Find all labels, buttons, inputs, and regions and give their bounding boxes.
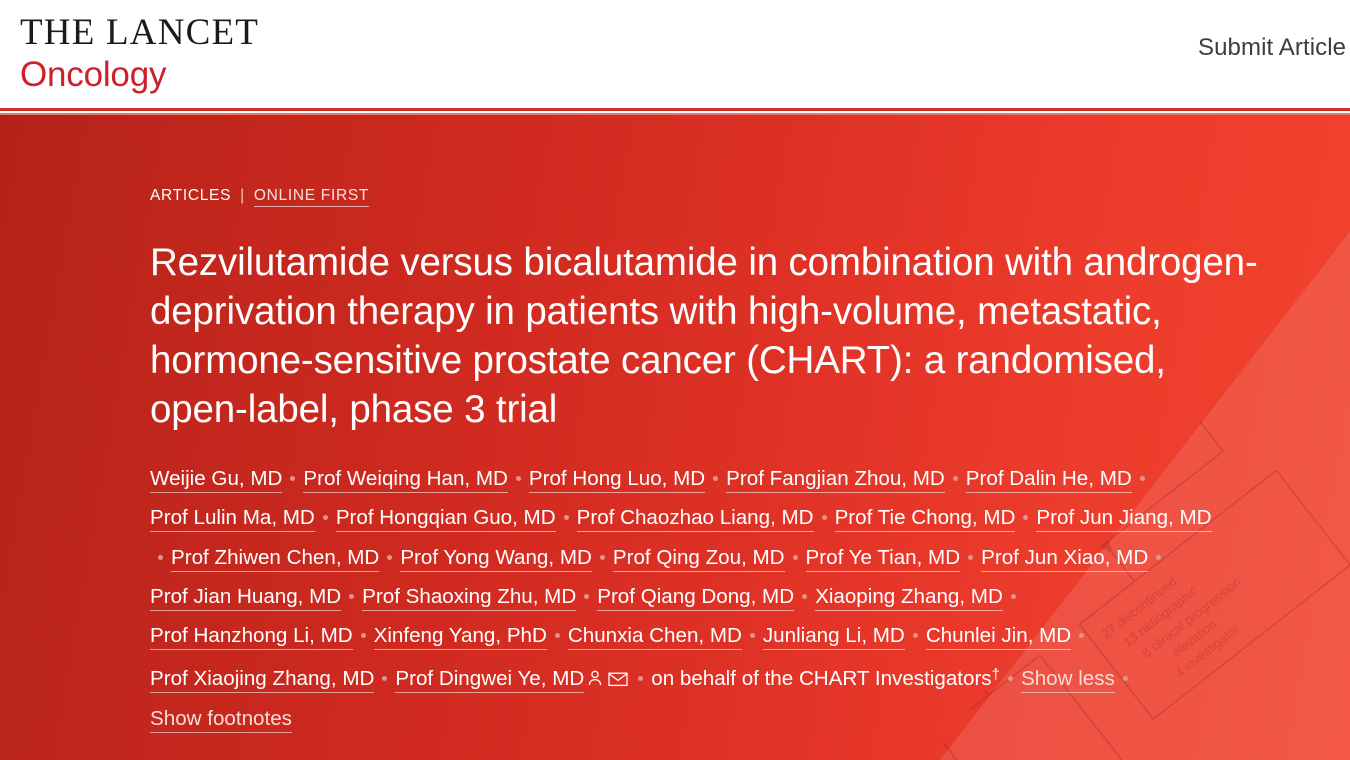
author-link[interactable]: Prof Fangjian Zhou, MD: [726, 467, 945, 493]
author-separator-dot: [387, 555, 392, 560]
header-actions: Submit Article: [1198, 34, 1350, 62]
author-separator-dot: [822, 515, 827, 520]
author-link[interactable]: Prof Yong Wang, MD: [400, 546, 592, 572]
author-separator-dot: [1011, 594, 1016, 599]
author-separator-dot: [290, 476, 295, 481]
author-separator-dot: [713, 476, 718, 481]
author-separator-dot: [349, 594, 354, 599]
author-link[interactable]: Xiaoping Zhang, MD: [815, 585, 1003, 611]
author-link[interactable]: Prof Qing Zou, MD: [613, 546, 785, 572]
site-header: THE LANCET Oncology Submit Article: [0, 0, 1350, 108]
footnote-marker[interactable]: †: [992, 666, 1000, 683]
page-title: Rezvilutamide versus bicalutamide in com…: [150, 238, 1260, 434]
author-link[interactable]: Chunxia Chen, MD: [568, 624, 742, 650]
author-separator-dot: [382, 676, 387, 681]
author-separator-dot: [913, 633, 918, 638]
author-link[interactable]: Prof Ye Tian, MD: [806, 546, 961, 572]
author-separator-dot: [1156, 555, 1161, 560]
article-hero-banner: 218 ongoing at interim progression-free …: [0, 115, 1350, 760]
author-link[interactable]: Prof Shaoxing Zhu, MD: [362, 585, 576, 611]
author-separator-dot: [1123, 676, 1128, 681]
author-separator-dot: [600, 555, 605, 560]
breadcrumb: ARTICLES | ONLINE FIRST: [150, 187, 1350, 207]
author-separator-dot: [564, 515, 569, 520]
author-link[interactable]: Prof Qiang Dong, MD: [597, 585, 794, 611]
author-list: Weijie Gu, MDProf Weiqing Han, MDProf Ho…: [150, 459, 1225, 738]
author-separator-dot: [968, 555, 973, 560]
breadcrumb-online-first-link[interactable]: ONLINE FIRST: [254, 187, 369, 207]
author-link[interactable]: Prof Lulin Ma, MD: [150, 506, 315, 532]
author-link[interactable]: Prof Xiaojing Zhang, MD: [150, 667, 374, 693]
author-link[interactable]: Prof Weiqing Han, MD: [303, 467, 508, 493]
author-link[interactable]: Prof Dalin He, MD: [966, 467, 1132, 493]
author-link[interactable]: Prof Tie Chong, MD: [835, 506, 1016, 532]
author-separator-dot: [361, 633, 366, 638]
submit-article-link[interactable]: Submit Article: [1198, 34, 1346, 61]
banner-content: ARTICLES | ONLINE FIRST Rezvilutamide ve…: [0, 115, 1350, 760]
author-separator-dot: [584, 594, 589, 599]
author-separator-dot: [638, 676, 643, 681]
envelope-icon[interactable]: [608, 671, 628, 687]
breadcrumb-separator: |: [240, 187, 245, 205]
show-footnotes-button[interactable]: Show footnotes: [150, 707, 292, 733]
author-link[interactable]: Prof Hongqian Guo, MD: [336, 506, 556, 532]
author-link[interactable]: Prof Chaozhao Liang, MD: [577, 506, 814, 532]
author-link[interactable]: Prof Zhiwen Chen, MD: [171, 546, 379, 572]
author-separator-dot: [158, 555, 163, 560]
person-icon[interactable]: [586, 669, 604, 687]
logo-text-lancet: THE LANCET: [20, 14, 259, 51]
author-link[interactable]: Junliang Li, MD: [763, 624, 905, 650]
author-separator-dot: [1079, 633, 1084, 638]
logo-text-oncology: Oncology: [20, 57, 259, 92]
author-link[interactable]: Prof Hanzhong Li, MD: [150, 624, 353, 650]
author-separator-dot: [750, 633, 755, 638]
breadcrumb-section: ARTICLES: [150, 187, 231, 205]
author-link[interactable]: Prof Jun Xiao, MD: [981, 546, 1148, 572]
author-separator-dot: [516, 476, 521, 481]
author-separator-dot: [793, 555, 798, 560]
author-link[interactable]: Xinfeng Yang, PhD: [374, 624, 547, 650]
group-credit: on behalf of the CHART Investigators: [651, 667, 991, 690]
author-link[interactable]: Prof Jian Huang, MD: [150, 585, 341, 611]
author-link[interactable]: Chunlei Jin, MD: [926, 624, 1071, 650]
site-logo[interactable]: THE LANCET Oncology: [20, 14, 259, 92]
author-separator-dot: [953, 476, 958, 481]
author-separator-dot: [1008, 676, 1013, 681]
author-separator-dot: [555, 633, 560, 638]
author-separator-dot: [1140, 476, 1145, 481]
author-separator-dot: [1023, 515, 1028, 520]
author-link-corresponding[interactable]: Prof Dingwei Ye, MD: [395, 667, 584, 693]
show-less-button[interactable]: Show less: [1021, 667, 1115, 693]
author-link[interactable]: Weijie Gu, MD: [150, 467, 282, 493]
author-separator-dot: [323, 515, 328, 520]
author-link[interactable]: Prof Hong Luo, MD: [529, 467, 705, 493]
author-separator-dot: [802, 594, 807, 599]
author-link[interactable]: Prof Jun Jiang, MD: [1036, 506, 1211, 532]
